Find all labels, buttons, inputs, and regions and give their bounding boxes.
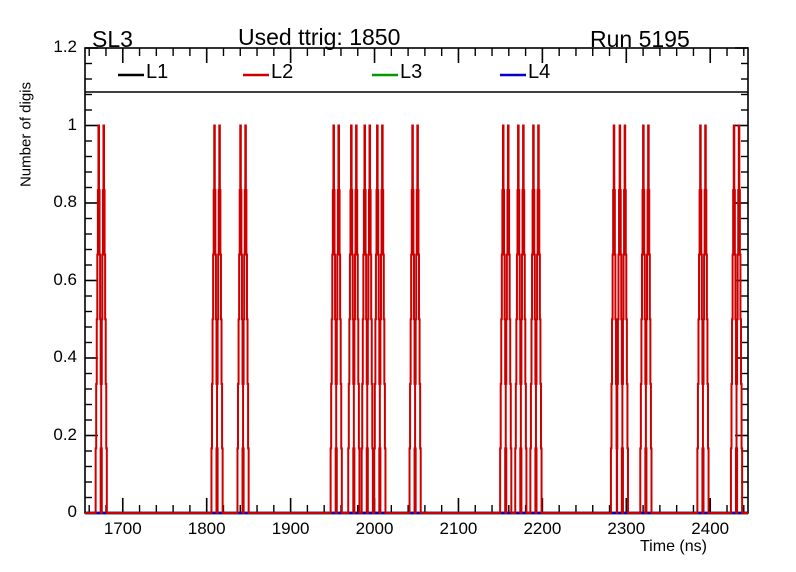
panel-label-superlayer: SL3 (92, 26, 133, 53)
chart-canvas: SL3 Used ttrig: 1850 Run 5195 Number of … (0, 0, 796, 572)
y-tick-label: 1 (29, 115, 77, 135)
x-tick-label: 1700 (93, 519, 153, 539)
x-tick-label: 2200 (512, 519, 572, 539)
x-tick-label: 2000 (345, 519, 405, 539)
y-tick-label: 1.2 (29, 37, 77, 57)
x-tick-label: 2300 (596, 519, 656, 539)
x-tick-label: 2400 (680, 519, 740, 539)
x-tick-label: 2100 (428, 519, 488, 539)
legend-entry-l2: L2 (271, 61, 293, 84)
x-axis-title: Time (ns) (640, 538, 707, 556)
run-label: Run 5195 (590, 26, 690, 53)
y-tick-label: 0.4 (29, 347, 77, 367)
y-tick-label: 0.8 (29, 192, 77, 212)
legend-entry-l3: L3 (400, 61, 422, 84)
x-tick-label: 1900 (261, 519, 321, 539)
y-axis-title: Number of digis (18, 65, 35, 205)
y-tick-label: 0.6 (29, 270, 77, 290)
plot-area (0, 0, 796, 572)
chart-title: Used ttrig: 1850 (238, 24, 400, 51)
y-tick-label: 0 (29, 502, 77, 522)
y-tick-label: 0.2 (29, 425, 77, 445)
legend-entry-l1: L1 (146, 61, 168, 84)
x-tick-label: 1800 (177, 519, 237, 539)
legend-entry-l4: L4 (528, 61, 550, 84)
